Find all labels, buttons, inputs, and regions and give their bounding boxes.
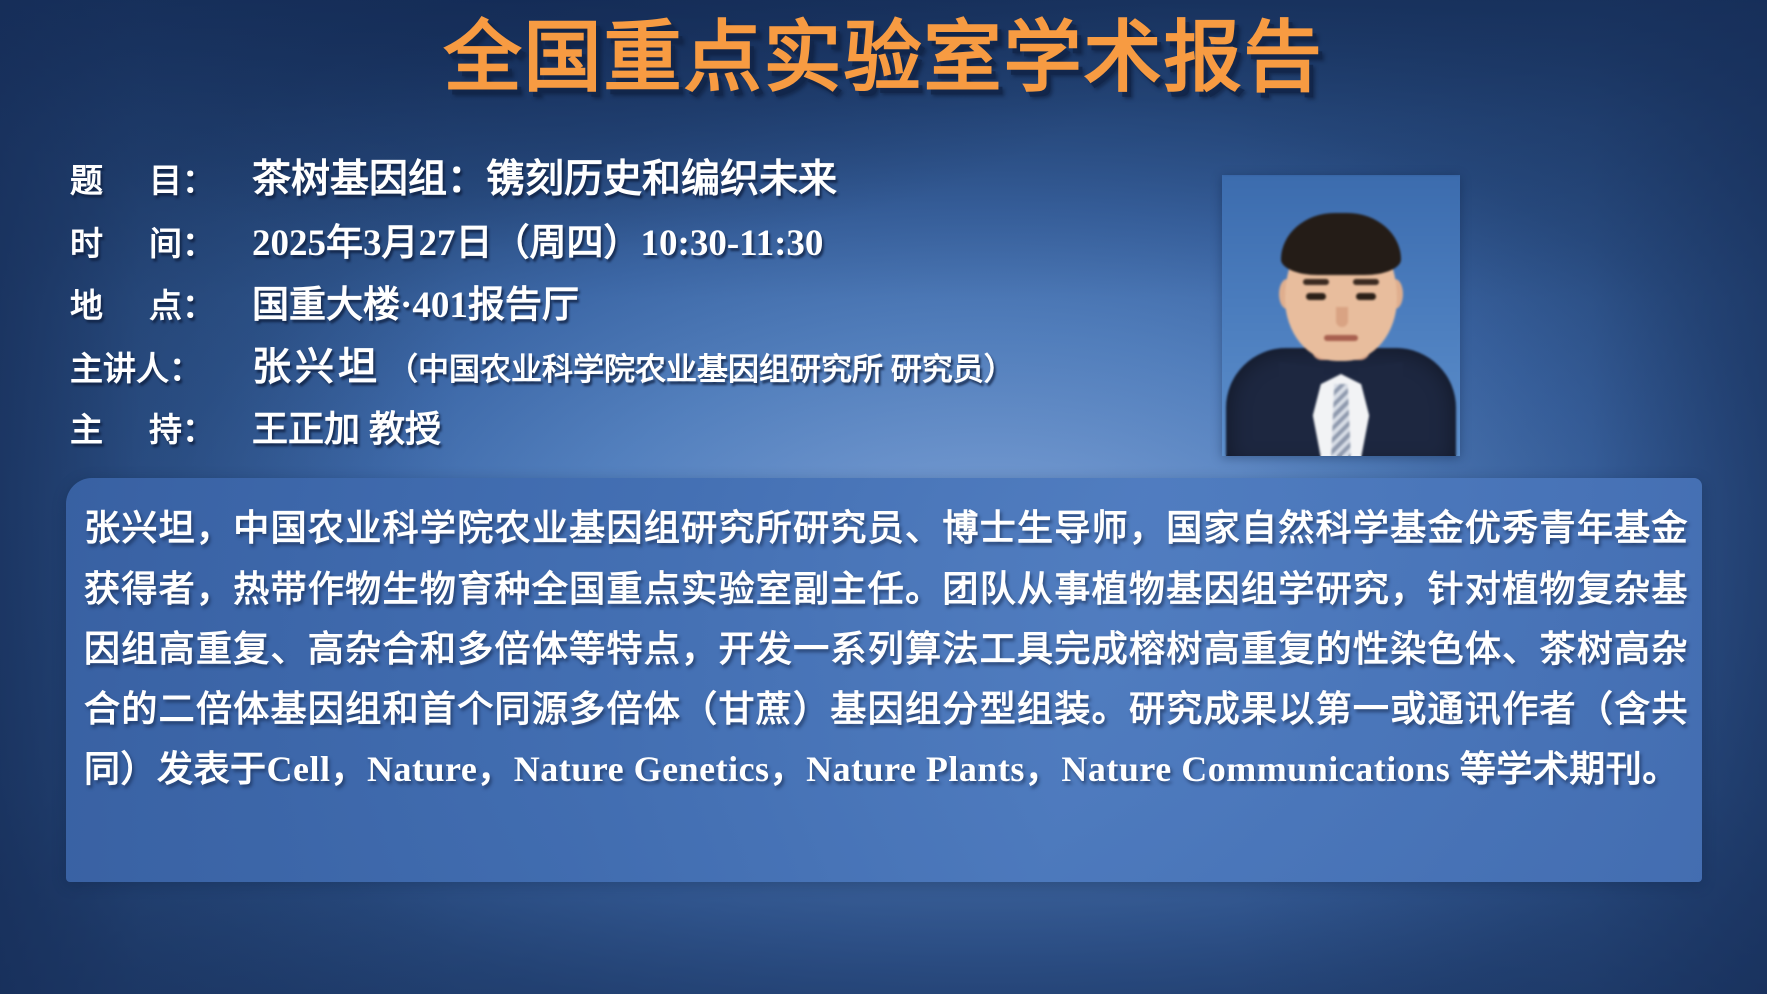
- info-value-speaker: 张兴坦（中国农业科学院农业基因组研究所 研究员）: [252, 336, 1015, 392]
- info-value-venue: 国重大楼·401报告厅: [252, 274, 579, 328]
- info-block: 题目： 茶树基因组：镌刻历史和编织未来 时间： 2025年3月27日（周四）10…: [70, 148, 1230, 460]
- info-value-time: 2025年3月27日（周四）10:30-11:30: [252, 212, 823, 266]
- info-row-topic: 题目： 茶树基因组：镌刻历史和编织未来: [70, 148, 1230, 204]
- info-label-speaker: 主讲人：: [70, 342, 252, 390]
- info-row-time: 时间： 2025年3月27日（周四）10:30-11:30: [70, 212, 1230, 266]
- info-row-speaker: 主讲人： 张兴坦（中国农业科学院农业基因组研究所 研究员）: [70, 336, 1230, 392]
- info-label-time: 时间：: [70, 217, 252, 265]
- info-value-topic: 茶树基因组：镌刻历史和编织未来: [252, 148, 837, 204]
- info-value-host: 王正加 教授: [252, 400, 441, 452]
- info-row-host: 主持： 王正加 教授: [70, 400, 1230, 452]
- seminar-poster: 全国重点实验室学术报告 题目： 茶树基因组：镌刻历史和编织未来 时间： 2025…: [0, 0, 1767, 994]
- bio-lead-name: 张兴坦: [84, 508, 196, 549]
- info-row-venue: 地点： 国重大楼·401报告厅: [70, 274, 1230, 328]
- speaker-affiliation: （中国农业科学院农业基因组研究所 研究员）: [387, 352, 1015, 387]
- speaker-bio-text: 张兴坦，中国农业科学院农业基因组研究所研究员、博士生导师，国家自然科学基金优秀青…: [84, 498, 1688, 799]
- speaker-portrait-photo: [1222, 175, 1460, 456]
- info-label-host: 主持：: [70, 403, 252, 451]
- speaker-bio-panel: 张兴坦，中国农业科学院农业基因组研究所研究员、博士生导师，国家自然科学基金优秀青…: [66, 478, 1702, 882]
- bio-body: ，中国农业科学院农业基因组研究所研究员、博士生导师，国家自然科学基金优秀青年基金…: [84, 508, 1688, 789]
- page-title: 全国重点实验室学术报告: [0, 18, 1767, 100]
- portrait-blur-overlay: [1222, 175, 1460, 456]
- speaker-name: 张兴坦: [252, 345, 381, 390]
- info-label-topic: 题目：: [70, 154, 252, 202]
- info-label-venue: 地点：: [70, 279, 252, 327]
